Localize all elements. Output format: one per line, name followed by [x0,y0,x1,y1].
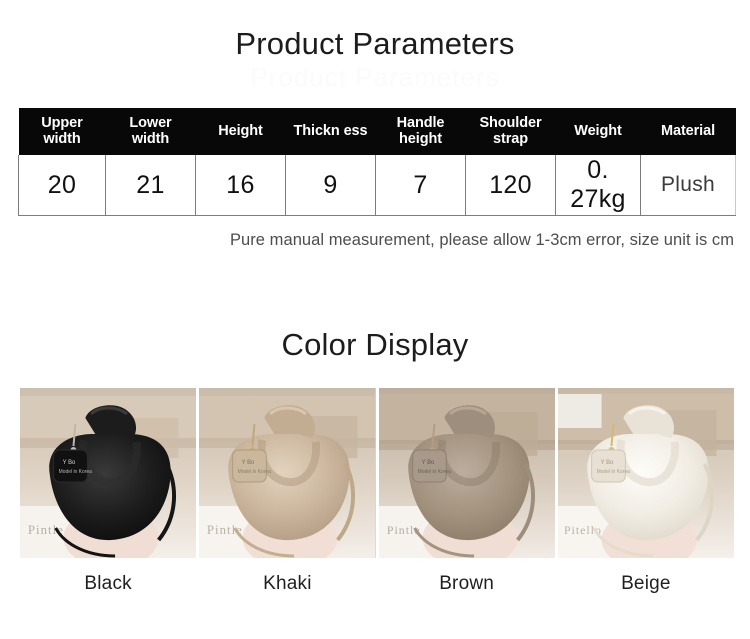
value-weight: 0. 27kg [556,155,641,216]
product-parameters-title: Product Parameters [0,26,750,62]
value-thickness: 9 [286,155,376,216]
color-label-brown: Brown [439,573,494,595]
product-photo-beige[interactable]: Pitello Y Bo Model in Korea [558,388,734,558]
color-option-beige[interactable]: Pitello Y Bo Model in Korea Beige [558,388,734,595]
color-option-khaki[interactable]: Pintle Y Bo Model in Korea Khaki [199,388,375,595]
color-label-khaki: Khaki [263,573,312,595]
value-material: Plush [641,155,736,216]
value-lower-width: 21 [106,155,196,216]
color-display-row: Pintle Y Bo Model in Korea Black [20,388,734,595]
header-upper-width: Upper width [19,108,106,155]
svg-text:Y Bo: Y Bo [63,460,76,466]
svg-text:Model in Korea: Model in Korea [417,469,450,475]
color-display-title: Color Display [0,327,750,363]
svg-text:Y Bo: Y Bo [421,460,434,466]
value-height: 16 [196,155,286,216]
value-handle-height: 7 [376,155,466,216]
header-thickness: Thickn ess [286,108,376,155]
bag-illustration-beige: Pitello Y Bo Model in Korea [558,388,734,558]
bag-illustration-khaki: Pintle Y Bo Model in Korea [199,388,375,558]
svg-text:Model in Korea: Model in Korea [59,469,92,475]
color-label-black: Black [84,573,131,595]
bag-illustration-brown: Pintle Y Bo Model in Korea [379,388,555,558]
color-option-brown[interactable]: Pintle Y Bo Model in Korea Brown [379,388,555,595]
product-parameters-watermark: Product Parameters [0,62,750,93]
bag-illustration-black: Pintle Y Bo Model in Korea [20,388,196,558]
product-parameters-table: Upper width Lower width Height Thickn es… [18,108,736,216]
product-photo-brown[interactable]: Pintle Y Bo Model in Korea [379,388,555,558]
header-lower-width: Lower width [106,108,196,155]
table-header-row: Upper width Lower width Height Thickn es… [19,108,736,155]
product-photo-black[interactable]: Pintle Y Bo Model in Korea [20,388,196,558]
svg-text:Y Bo: Y Bo [242,460,255,466]
header-shoulder-strap: Shoulder strap [466,108,556,155]
table-row: 20 21 16 9 7 120 0. 27kg Plush [19,155,736,216]
header-height: Height [196,108,286,155]
value-shoulder-strap: 120 [466,155,556,216]
color-option-black[interactable]: Pintle Y Bo Model in Korea Black [20,388,196,595]
value-upper-width: 20 [19,155,106,216]
svg-text:Model in Korea: Model in Korea [596,469,629,475]
measurement-note: Pure manual measurement, please allow 1-… [0,231,734,250]
header-weight: Weight [556,108,641,155]
svg-text:Model in Korea: Model in Korea [238,469,271,475]
svg-text:Y Bo: Y Bo [600,460,613,466]
product-photo-khaki[interactable]: Pintle Y Bo Model in Korea [199,388,375,558]
header-handle-height: Handle height [376,108,466,155]
color-label-beige: Beige [621,573,671,595]
header-material: Material [641,108,736,155]
